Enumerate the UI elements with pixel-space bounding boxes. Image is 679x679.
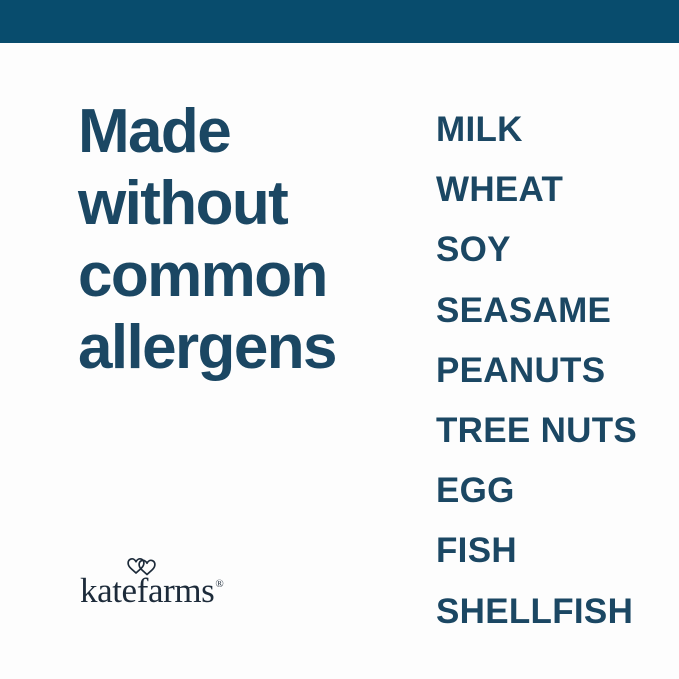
headline-line-4: allergens (78, 312, 378, 384)
registered-trademark-symbol: ® (215, 578, 223, 590)
allergen-item: EGG (436, 461, 666, 521)
allergen-item: TREE NUTS (436, 401, 666, 461)
allergen-item: FISH (436, 521, 666, 581)
headline-line-3: common (78, 240, 378, 312)
top-navy-band (0, 0, 679, 43)
allergen-item: SOY (436, 220, 666, 280)
headline-line-2: without (78, 168, 378, 240)
allergen-item: SHELLFISH (436, 582, 666, 642)
allergen-item: WHEAT (436, 160, 666, 220)
allergen-item: MILK (436, 100, 666, 160)
headline-block: Made without common allergens (78, 96, 378, 384)
allergen-list: MILK WHEAT SOY SEASAME PEANUTS TREE NUTS… (436, 100, 666, 642)
allergen-info-card: Made without common allergens MILK WHEAT… (0, 0, 679, 679)
allergen-item: PEANUTS (436, 341, 666, 401)
headline-line-1: Made (78, 96, 378, 168)
katefarms-logo: katefarms ® (80, 572, 224, 610)
logo-wordmark: katefarms (80, 572, 214, 610)
allergen-item: SEASAME (436, 281, 666, 341)
